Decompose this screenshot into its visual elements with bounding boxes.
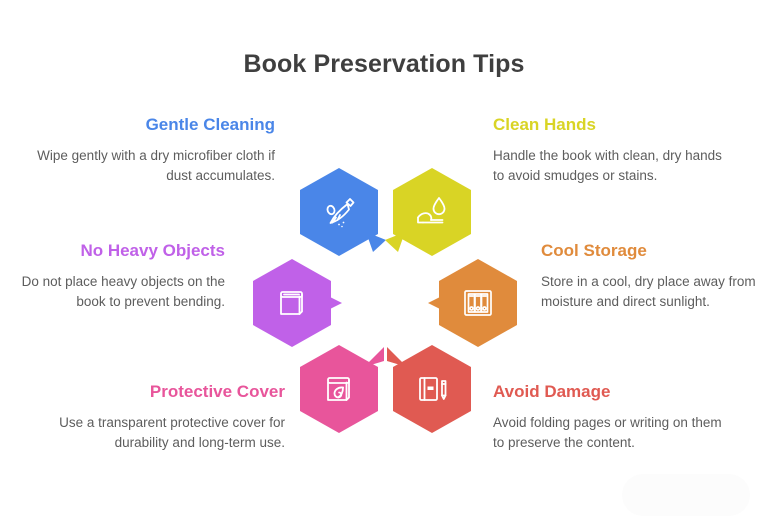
hex-tile-no-heavy-objects (253, 259, 331, 347)
tip-heading-avoid-damage: Avoid Damage (493, 381, 728, 402)
tip-heading-gentle-cleaning: Gentle Cleaning (15, 114, 275, 135)
book-leaf-cover-icon (300, 345, 378, 433)
tip-heading-cool-storage: Cool Storage (541, 240, 756, 261)
hex-tile-clean-hands (393, 168, 471, 256)
duster-brush-icon (300, 168, 378, 256)
tip-block-clean-hands: Clean Hands Handle the book with clean, … (493, 114, 728, 186)
watermark (622, 474, 750, 516)
tip-heading-clean-hands: Clean Hands (493, 114, 728, 135)
page-title: Book Preservation Tips (0, 50, 768, 79)
hex-tile-gentle-cleaning (300, 168, 378, 256)
hex-tile-avoid-damage (393, 345, 471, 433)
hex-tile-protective-cover (300, 345, 378, 433)
tip-heading-protective-cover: Protective Cover (15, 381, 285, 402)
tip-block-protective-cover: Protective Cover Use a transparent prote… (15, 381, 285, 453)
tip-block-no-heavy-objects: No Heavy Objects Do not place heavy obje… (15, 240, 225, 312)
closed-book-icon (253, 259, 331, 347)
hand-water-drop-icon (393, 168, 471, 256)
hex-tile-cool-storage (439, 259, 517, 347)
infographic-canvas: Book Preservation Tips Gentle Cleaning W… (0, 0, 768, 528)
tip-body-protective-cover: Use a transparent protective cover for d… (15, 413, 285, 453)
tip-body-avoid-damage: Avoid folding pages or writing on them t… (493, 413, 728, 453)
tip-block-gentle-cleaning: Gentle Cleaning Wipe gently with a dry m… (15, 114, 275, 186)
tip-block-cool-storage: Cool Storage Store in a cool, dry place … (541, 240, 756, 312)
tip-heading-no-heavy-objects: No Heavy Objects (15, 240, 225, 261)
tip-body-cool-storage: Store in a cool, dry place away from moi… (541, 272, 756, 312)
notebook-pencil-icon (393, 345, 471, 433)
tip-block-avoid-damage: Avoid Damage Avoid folding pages or writ… (493, 381, 728, 453)
tip-body-no-heavy-objects: Do not place heavy objects on the book t… (15, 272, 225, 312)
tip-body-gentle-cleaning: Wipe gently with a dry microfiber cloth … (15, 146, 275, 186)
binders-shelf-icon (439, 259, 517, 347)
tip-body-clean-hands: Handle the book with clean, dry hands to… (493, 146, 728, 186)
